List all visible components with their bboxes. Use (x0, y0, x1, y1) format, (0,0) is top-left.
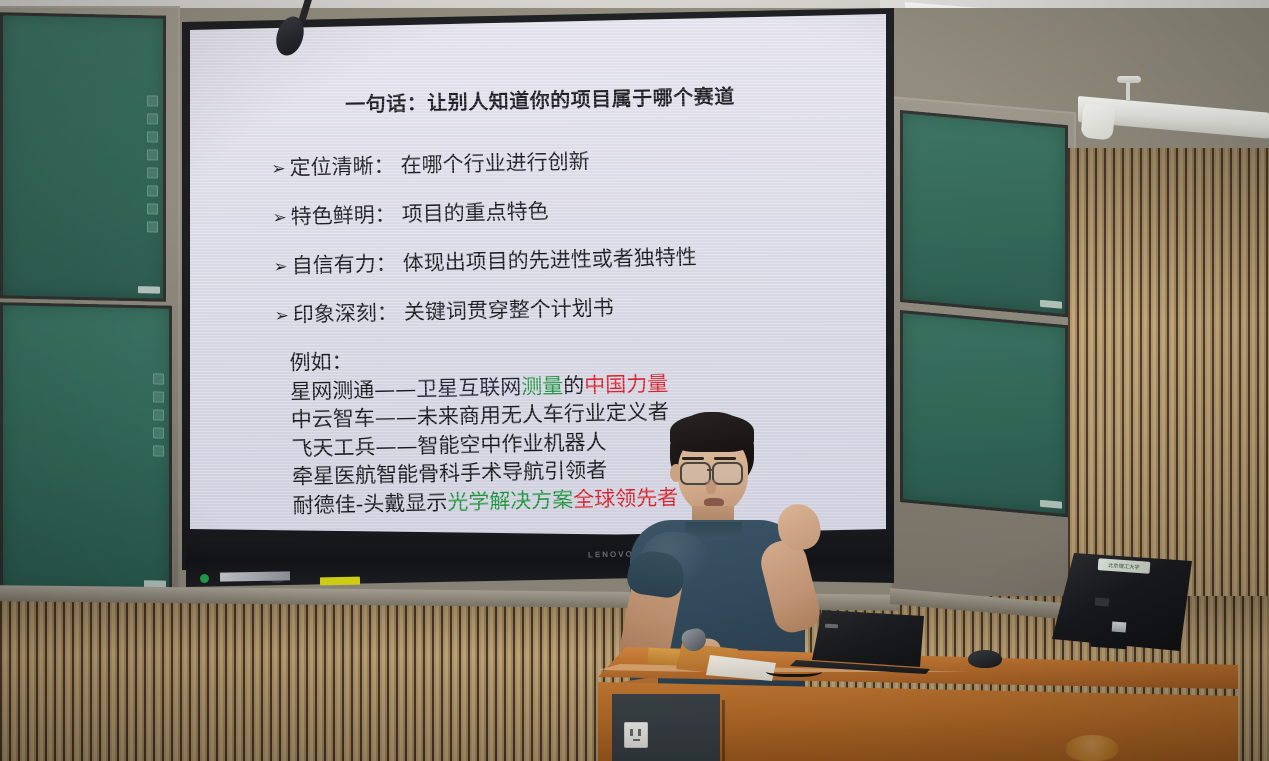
computer-mouse[interactable] (968, 650, 1002, 668)
bullet-arrow-icon: ➢ (271, 161, 286, 178)
blackboard-left-lower (0, 302, 172, 598)
bullet-item: ➢ 印象深刻： 关键词贯穿整个计划书 (274, 286, 875, 329)
blackboard-right-upper (900, 110, 1068, 317)
example-segment: 测量 (521, 373, 564, 398)
projection-screen-roller-end (1080, 103, 1115, 140)
example-segment: 中国力量 (584, 371, 669, 397)
blackboard-left-upper (0, 12, 166, 301)
bullet-arrow-icon: ➢ (272, 210, 287, 227)
bullet-body: 关键词贯穿整个计划书 (403, 292, 614, 327)
smoke-detector-stem (1126, 82, 1130, 100)
laptop-brand-logo (825, 624, 838, 629)
glasses-icon (712, 462, 743, 485)
presenter-hair-front (670, 414, 754, 452)
bullet-head: 特色鲜明： (290, 199, 396, 231)
bullet-body: 体现出项目的先进性或者独特性 (402, 241, 697, 277)
blackboard-right-lower (900, 310, 1068, 517)
podium-panel-seam (722, 700, 725, 761)
example-segment: 卫星互联网 (416, 374, 521, 400)
presenter-eyebrow-left (682, 457, 704, 460)
presenter-nose (706, 480, 716, 494)
bullet-body: 在哪个行业进行创新 (400, 145, 590, 179)
bullet-head: 自信有力： (291, 248, 397, 280)
bullet-head: 印象深刻： (292, 297, 398, 329)
example-segment: 的 (563, 373, 585, 397)
bullet-body: 项目的重点特色 (401, 195, 549, 228)
monitor-sticker (1112, 622, 1127, 633)
monitor-port (1095, 598, 1110, 607)
bullet-item: ➢ 自信有力： 体现出项目的先进性或者独特性 (273, 237, 874, 280)
bullet-item: ➢ 定位清晰： 在哪个行业进行创新 (271, 139, 872, 182)
bullet-arrow-icon: ➢ (274, 308, 289, 325)
display-label-strip (220, 571, 290, 581)
display-power-led (200, 574, 209, 583)
glasses-bridge (707, 469, 714, 471)
bullet-arrow-icon: ➢ (273, 259, 288, 276)
podium-emblem (1066, 735, 1118, 761)
bullet-head: 定位清晰： (289, 150, 395, 182)
example-segment: 光学解决方案 (447, 487, 573, 514)
example-segment: 飞天工兵——智能空中作业机器人 (291, 430, 606, 461)
lecture-hall-photo: 一句话：让别人知道你的项目属于哪个赛道 ➢ 定位清晰： 在哪个行业进行创新 ➢ … (0, 0, 1269, 761)
wall-socket-icon[interactable] (624, 722, 648, 748)
slide-title: 一句话：让别人知道你的项目属于哪个赛道 (192, 77, 886, 121)
bullet-item: ➢ 特色鲜明： 项目的重点特色 (272, 188, 873, 231)
example-segment: 牵星医航智能骨科手术导航引领者 (292, 458, 607, 489)
presenter-eyebrow-right (714, 457, 736, 460)
example-segment: 星网测通—— (290, 377, 416, 404)
example-segment: 耐德佳-头戴显示 (292, 490, 447, 517)
slide-bullet-list: ➢ 定位清晰： 在哪个行业进行创新 ➢ 特色鲜明： 项目的重点特色 ➢ 自信有力… (271, 139, 875, 348)
display-yellow-sticker (320, 577, 360, 586)
laptop-screen-lid[interactable] (812, 610, 924, 667)
